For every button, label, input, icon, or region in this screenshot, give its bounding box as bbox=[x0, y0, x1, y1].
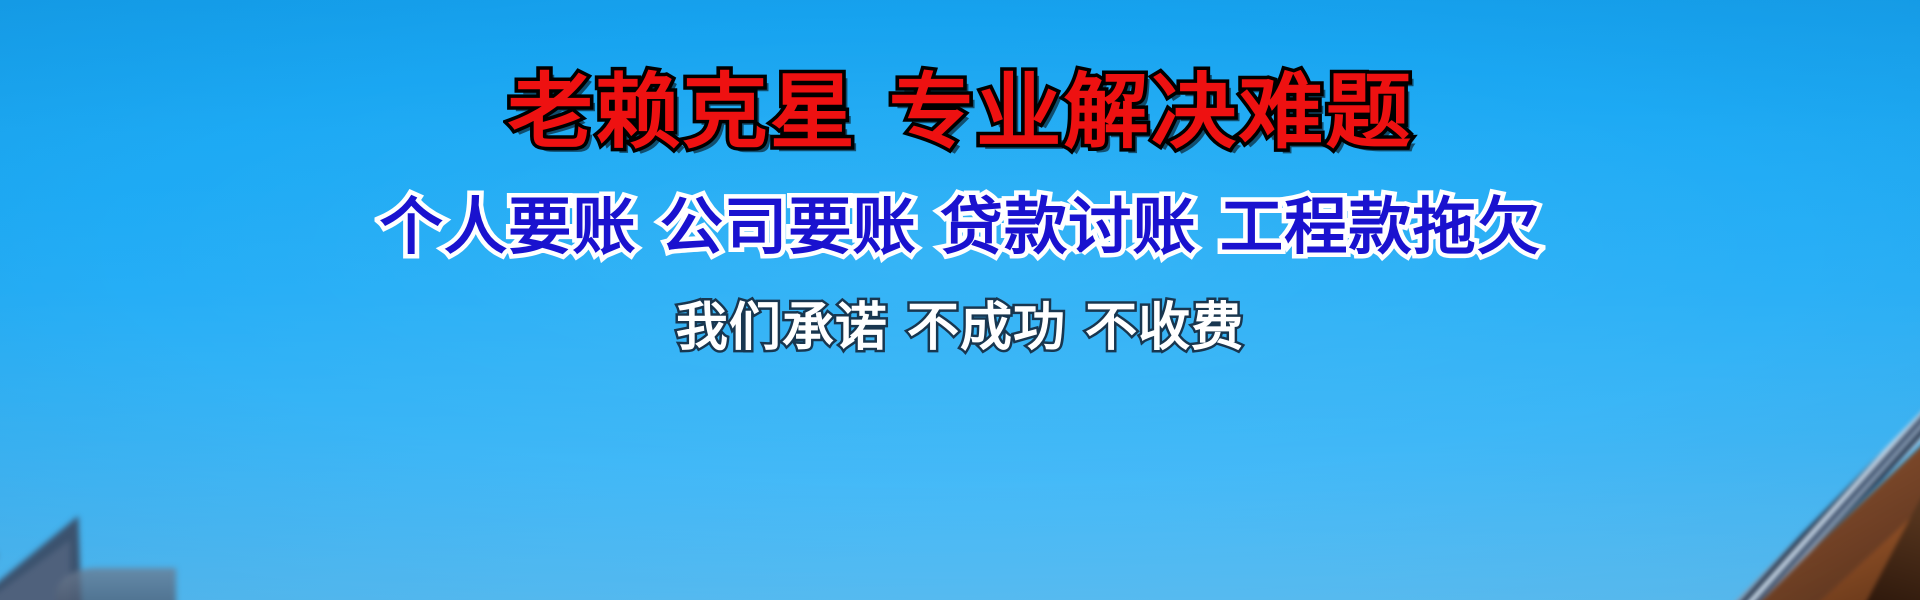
promise-tagline: 我们承诺 不成功 不收费 bbox=[676, 302, 1244, 354]
advertising-banner: 老赖克星 专业解决难题 个人要账 公司要账 贷款讨账 工程款拖欠 我们承诺 不成… bbox=[0, 0, 1920, 600]
headline-title: 老赖克星 专业解决难题 bbox=[507, 72, 1412, 154]
banner-text-block: 老赖克星 专业解决难题 个人要账 公司要账 贷款讨账 工程款拖欠 我们承诺 不成… bbox=[0, 0, 1920, 600]
services-subtitle: 个人要账 公司要账 贷款讨账 工程款拖欠 bbox=[379, 196, 1541, 258]
